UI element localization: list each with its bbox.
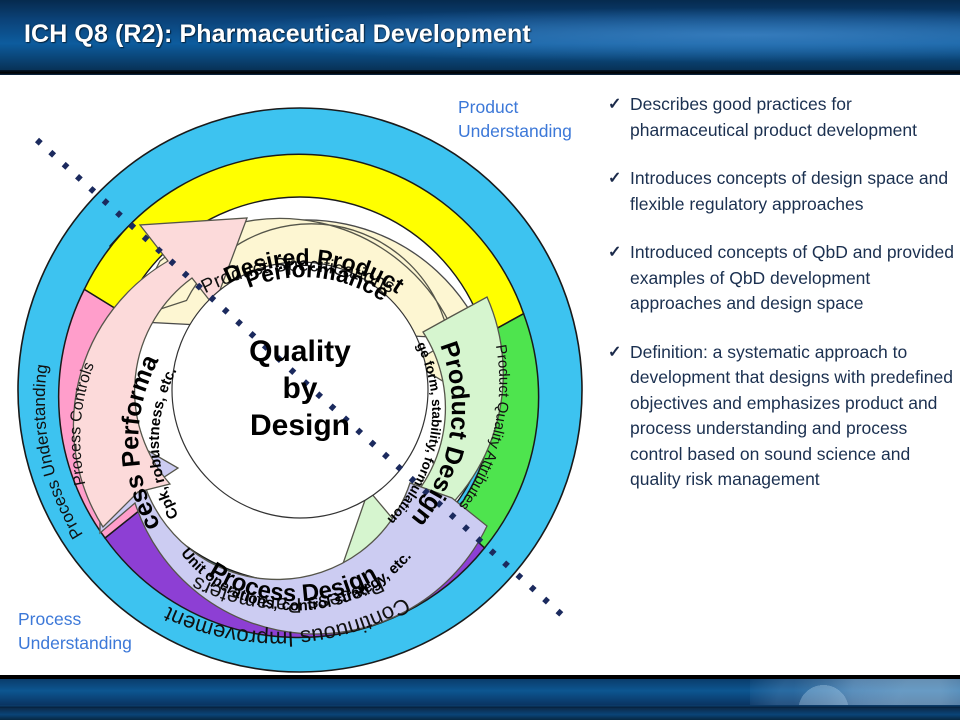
bullet-text: Introduces concepts of design space and … (630, 166, 956, 217)
qbd-circle-diagram: Product Specifications Product Quality A… (0, 78, 600, 678)
corner-label-process-line2: Understanding (18, 631, 132, 655)
check-icon: ✓ (608, 340, 630, 365)
center-label-line-3: Design (250, 409, 350, 442)
page-title: ICH Q8 (R2): Pharmaceutical Development (24, 20, 531, 49)
bullet-item: ✓ Definition: a systematic approach to d… (608, 340, 956, 493)
check-icon: ✓ (608, 92, 630, 117)
bullet-text: Definition: a systematic approach to dev… (630, 340, 956, 493)
bullet-text: Introduced concepts of QbD and provided … (630, 240, 956, 317)
corner-label-product-line1: Product (458, 95, 572, 119)
footer-base-band (0, 708, 960, 720)
globe-icon (750, 679, 960, 705)
bullet-text: Describes good practices for pharmaceuti… (630, 92, 956, 143)
corner-label-process-line1: Process (18, 607, 132, 631)
check-icon: ✓ (608, 166, 630, 191)
bullet-item: ✓ Introduces concepts of design space an… (608, 166, 956, 217)
title-bar: ICH Q8 (R2): Pharmaceutical Development (0, 0, 960, 70)
footer-bar (0, 675, 960, 720)
check-icon: ✓ (608, 240, 630, 265)
corner-label-product-line2: Understanding (458, 119, 572, 143)
center-label-line-1: Quality (249, 335, 351, 368)
bullet-list: ✓ Describes good practices for pharmaceu… (608, 92, 956, 516)
header-divider (0, 70, 960, 75)
center-label-line-2: by (282, 372, 317, 405)
bullet-item: ✓ Describes good practices for pharmaceu… (608, 92, 956, 143)
corner-label-process-understanding: Process Understanding (18, 607, 132, 655)
bullet-item: ✓ Introduced concepts of QbD and provide… (608, 240, 956, 317)
corner-label-product-understanding: Product Understanding (458, 95, 572, 143)
